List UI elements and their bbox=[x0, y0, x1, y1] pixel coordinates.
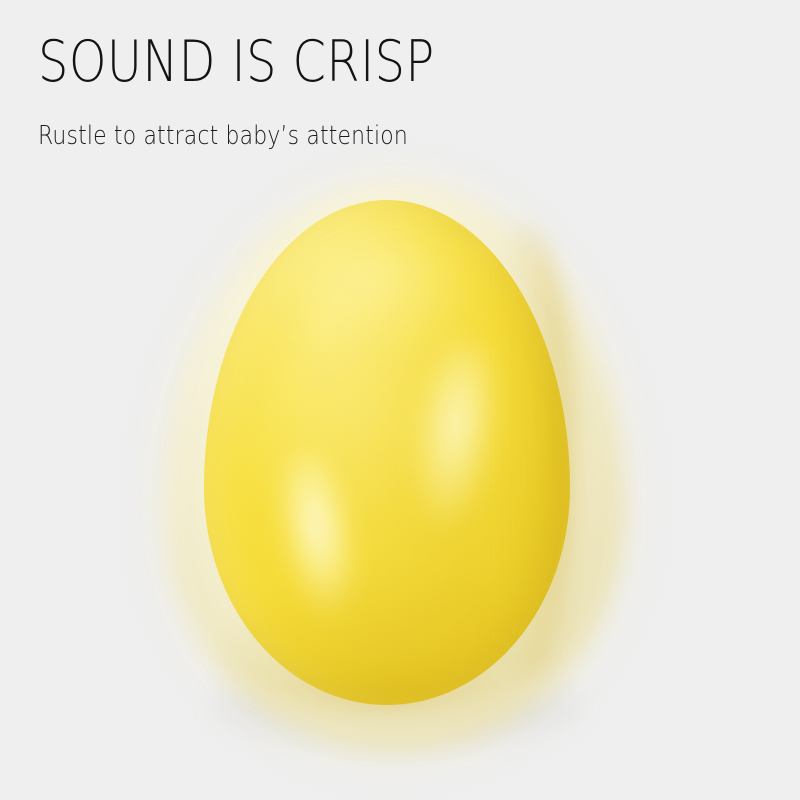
text-block: SOUND IS CRISP Rustle to attract baby’s … bbox=[38, 30, 738, 152]
subheadline: Rustle to attract baby’s attention bbox=[38, 94, 640, 152]
egg-top-sheen bbox=[262, 218, 492, 358]
headline: SOUND IS CRISP bbox=[38, 30, 626, 94]
product-feature-banner: SOUND IS CRISP Rustle to attract baby’s … bbox=[0, 0, 800, 800]
product-photo bbox=[0, 160, 800, 800]
egg-bottom-shading bbox=[214, 581, 544, 711]
